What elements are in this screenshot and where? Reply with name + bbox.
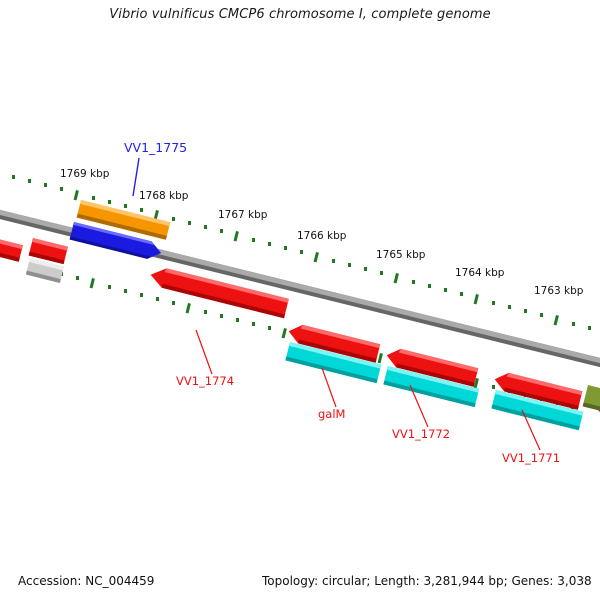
scale-tick-minor: [268, 326, 271, 330]
leader-line: [322, 368, 336, 407]
scale-tick-minor: [204, 225, 207, 229]
scale-tick-minor: [364, 267, 367, 271]
scale-tick-minor: [188, 221, 191, 225]
scale-tick-minor: [460, 292, 463, 296]
tick-label: 1763 kbp: [534, 285, 584, 297]
scale-tick-minor: [252, 238, 255, 242]
scale-tick-minor: [444, 288, 447, 292]
tick-label: 1765 kbp: [376, 249, 426, 261]
scale-tick-minor: [140, 208, 143, 212]
scale-tick-minor: [124, 289, 127, 293]
gene-right-olive[interactable]: [583, 385, 600, 412]
scale-tick-minor: [108, 285, 111, 289]
genome-diagram[interactable]: 1769 kbp 1768 kbp 1767 kbp 1766 kbp 1765…: [0, 0, 600, 600]
scale-tick-minor: [28, 179, 31, 183]
tick-label: 1769 kbp: [60, 168, 110, 180]
gene-label-vv1-1771[interactable]: VV1_1771: [502, 451, 560, 465]
tick-label: 1767 kbp: [218, 209, 268, 221]
scale-tick-minor: [108, 200, 111, 204]
scale-tick-minor: [380, 271, 383, 275]
scale-tick-minor: [284, 246, 287, 250]
scale-tick-minor: [268, 242, 271, 246]
gene-label-group-1775[interactable]: VV1_1775: [124, 140, 187, 196]
scale-tick-minor: [252, 322, 255, 326]
scale-tick-minor: [204, 310, 207, 314]
scale-tick-minor: [540, 313, 543, 317]
scale-tick-major: [234, 231, 239, 241]
gene-left-a[interactable]: [0, 236, 23, 262]
scale-tick-minor: [124, 204, 127, 208]
scale-tick-minor: [140, 293, 143, 297]
scale-tick-major: [74, 190, 79, 200]
scale-tick-minor: [348, 263, 351, 267]
tick-label: 1766 kbp: [297, 230, 347, 242]
scale-tick-minor: [508, 305, 511, 309]
scale-tick-minor: [44, 183, 47, 187]
tick-label: 1768 kbp: [139, 190, 189, 202]
scale-tick-minor: [524, 309, 527, 313]
scale-tick-minor: [12, 175, 15, 179]
gene-label-group-galm[interactable]: galM: [318, 368, 345, 421]
scale-tick-major: [474, 294, 479, 304]
scale-tick-major: [394, 273, 399, 283]
scale-tick-minor: [492, 385, 495, 389]
scale-tick-minor: [76, 276, 79, 280]
accession-text: Accession: NC_004459: [18, 574, 154, 588]
gene-label-vv1-1772[interactable]: VV1_1772: [392, 427, 450, 441]
scale-tick-minor: [60, 187, 63, 191]
scale-tick-minor: [220, 229, 223, 233]
scale-tick-minor: [492, 301, 495, 305]
scale-tick-minor: [332, 259, 335, 263]
scale-tick-major: [554, 315, 559, 325]
scale-tick-minor: [588, 326, 591, 330]
gene-label-vv1-1775[interactable]: VV1_1775: [124, 140, 187, 155]
gene-label-group-1774[interactable]: VV1_1774: [176, 330, 234, 388]
scale-tick-major: [282, 328, 287, 338]
scale-tick-major: [314, 252, 319, 262]
scale-tick-minor: [428, 284, 431, 288]
scale-tick-major: [186, 303, 191, 313]
scale-tick-minor: [92, 196, 95, 200]
scale-tick-minor: [412, 280, 415, 284]
scale-tick-minor: [172, 301, 175, 305]
scale-tick-major: [378, 353, 383, 363]
leader-line: [196, 330, 212, 374]
tick-label: 1764 kbp: [455, 267, 505, 279]
scale-tick-minor: [220, 314, 223, 318]
gene-label-galm[interactable]: galM: [318, 407, 345, 421]
genome-stats-text: Topology: circular; Length: 3,281,944 bp…: [262, 574, 592, 588]
scale-tick-minor: [236, 318, 239, 322]
scale-tick-major: [90, 278, 95, 288]
scale-tick-minor: [156, 297, 159, 301]
scale-tick-minor: [572, 322, 575, 326]
scale-tick-minor: [300, 250, 303, 254]
gene-label-vv1-1774[interactable]: VV1_1774: [176, 374, 234, 388]
scale-tick-minor: [172, 217, 175, 221]
genome-map-viewer[interactable]: Vibrio vulnificus CMCP6 chromosome I, co…: [0, 0, 600, 600]
